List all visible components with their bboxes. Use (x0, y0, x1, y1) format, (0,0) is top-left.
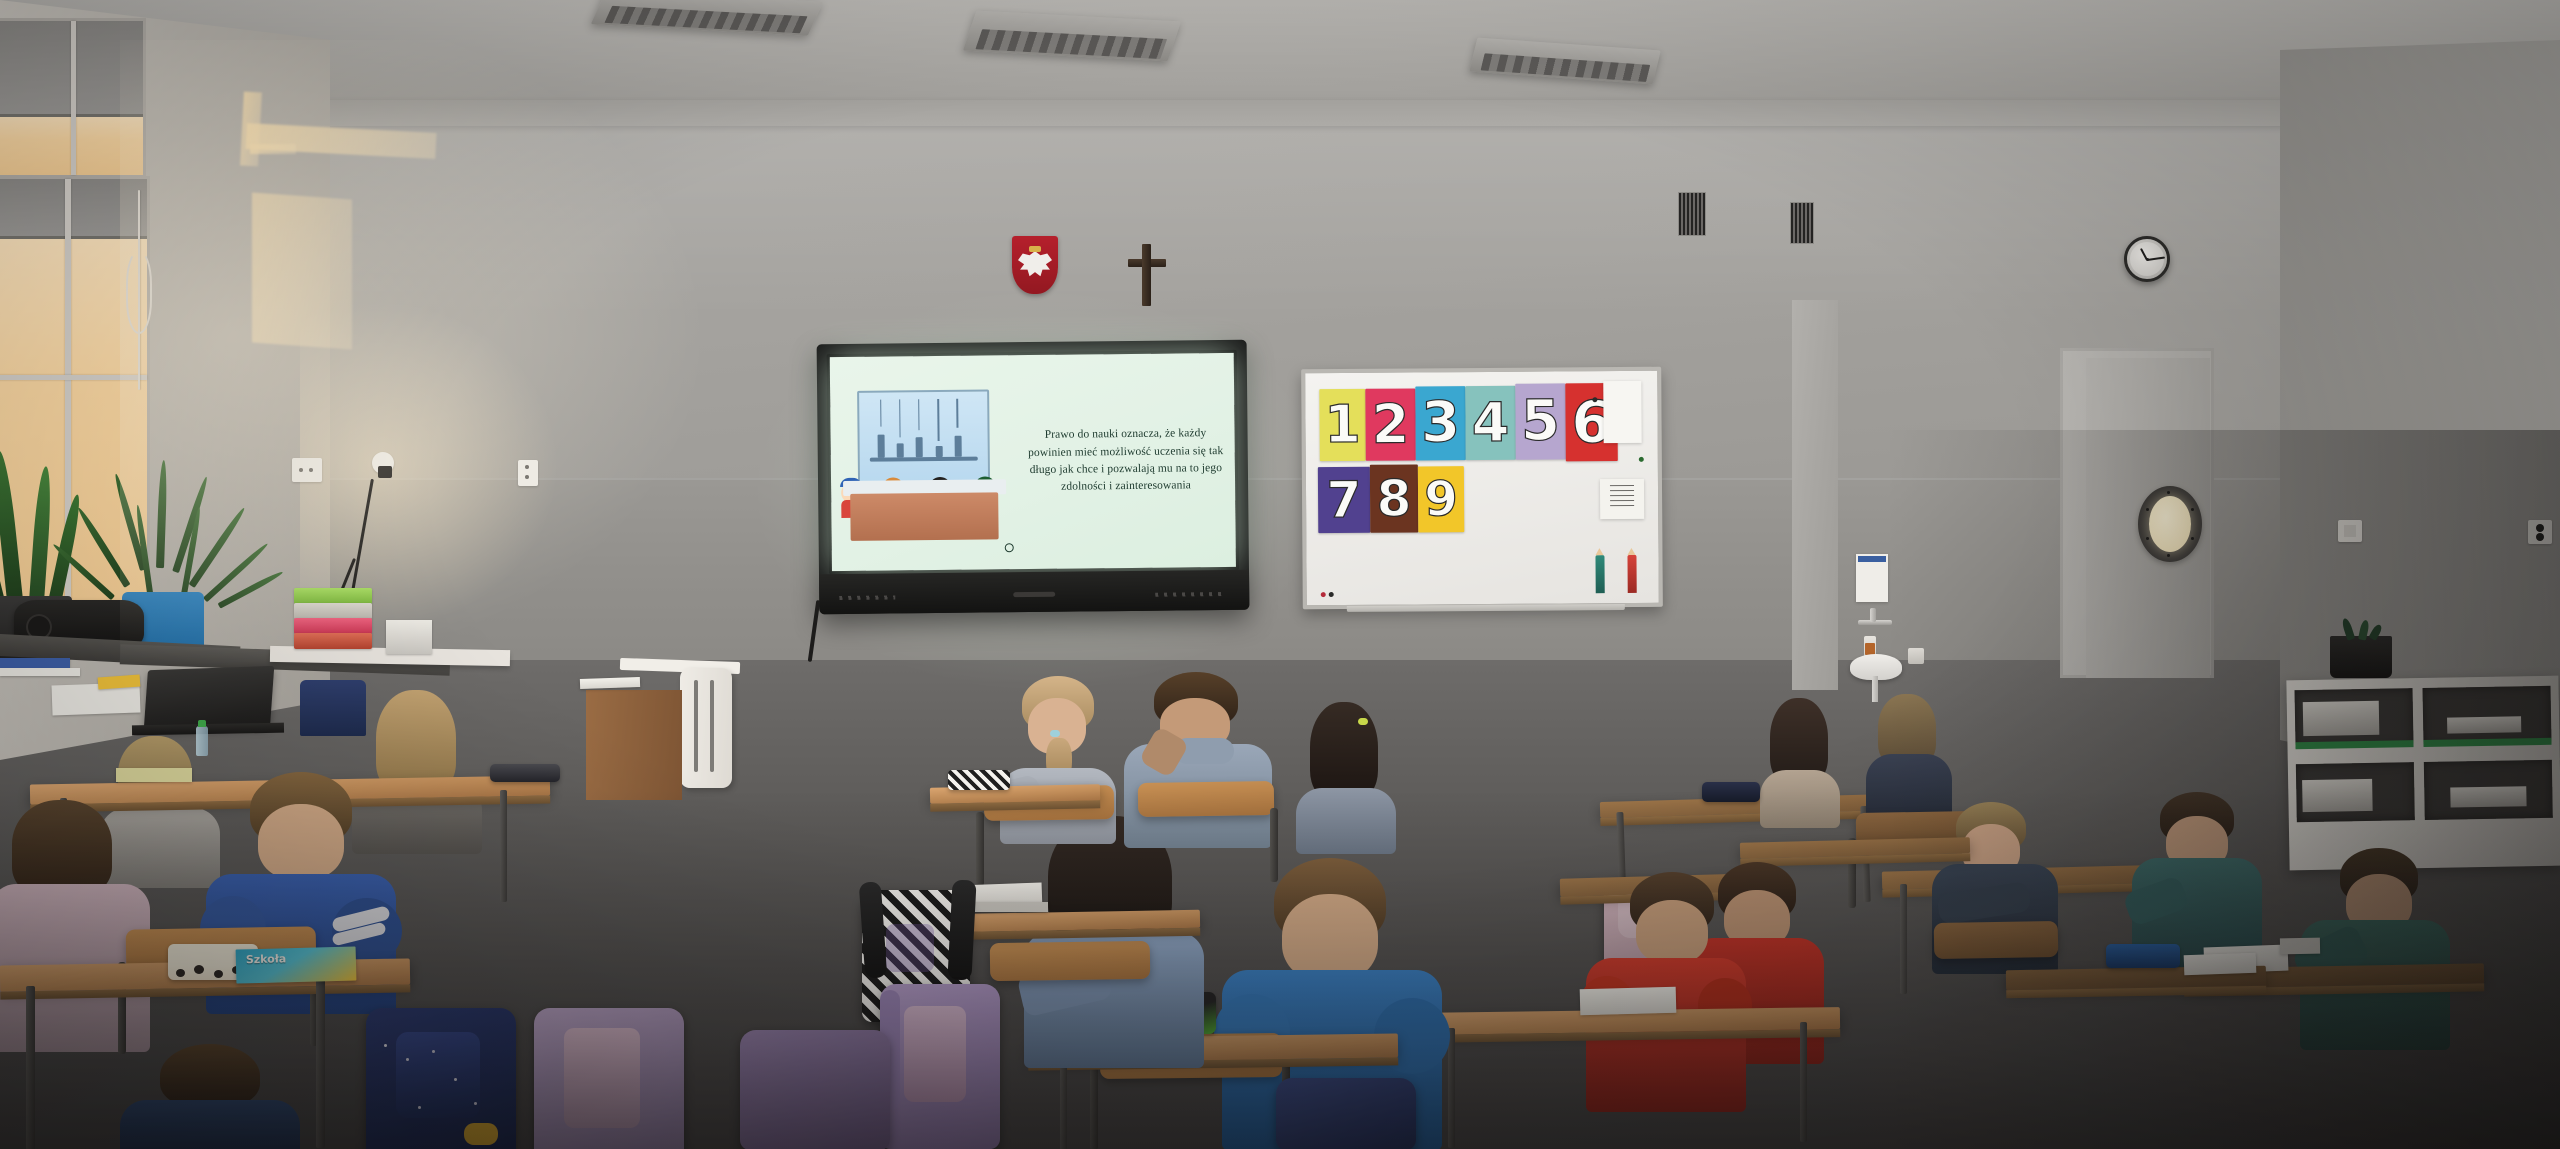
illustration-desk (851, 492, 999, 541)
student-chair[interactable] (1138, 781, 1274, 817)
drawer-organizer[interactable] (294, 588, 372, 650)
radiator-cover (680, 668, 732, 788)
wall-pillar (1792, 300, 1838, 690)
classroom-photo: Prawo do nauki oznacza, że każdy powinie… (0, 0, 2560, 1149)
student-grey-hoodie-boy (1124, 672, 1272, 852)
faucet[interactable] (1858, 620, 1892, 625)
display-bezel: Prawo do nauki oznacza, że każdy powinie… (827, 350, 1239, 574)
paper-stack (0, 668, 80, 676)
checkered-pencil-case[interactable] (948, 770, 1010, 790)
student-foreground (120, 1044, 300, 1149)
galaxy-backpack[interactable] (366, 1008, 516, 1149)
blue-pencil-case[interactable] (2106, 944, 2180, 968)
water-bottle[interactable] (196, 726, 208, 756)
roller-blind[interactable] (0, 179, 147, 239)
student-beige-sweater-girl (1754, 698, 1846, 818)
open-notebook[interactable] (2184, 953, 2257, 976)
multiplication-card-5[interactable]: 5 (1515, 383, 1566, 459)
paper-sheet (116, 768, 192, 782)
clock-face (2130, 242, 2164, 276)
student-desk (940, 910, 1200, 933)
window-upper (0, 18, 146, 178)
classroom-door[interactable] (2086, 358, 2210, 678)
paper-box (386, 620, 432, 654)
right-wall (2280, 40, 2560, 760)
textbook-szkola[interactable]: Szkoła (236, 946, 357, 983)
student-dark-hair-girl (1296, 702, 1396, 852)
student-chair[interactable] (990, 941, 1151, 981)
blind-cord[interactable] (138, 190, 140, 390)
handwash-instruction-poster (1856, 554, 1888, 602)
vent-grille-icon (1678, 192, 1706, 236)
power-plug[interactable] (378, 466, 392, 478)
teacher-laptop[interactable] (144, 666, 275, 730)
magnet-dot[interactable] (1639, 457, 1644, 462)
potted-plant-dark (2330, 636, 2392, 678)
stacked-papers (2447, 716, 2521, 733)
illustration-board (857, 390, 990, 486)
wall-socket[interactable] (292, 458, 322, 482)
interactive-display[interactable]: Prawo do nauki oznacza, że każdy powinie… (817, 340, 1250, 614)
door-frame (2060, 348, 2214, 678)
wall-socket[interactable] (518, 460, 538, 486)
wall-clock (2124, 236, 2170, 282)
student-green-sweater-boy (2300, 848, 2450, 1048)
purple-backpack[interactable] (534, 1008, 684, 1149)
light-switch[interactable] (2338, 520, 2362, 542)
multiplication-card-7[interactable]: 7 (1318, 467, 1370, 533)
magnet-dot[interactable] (1329, 592, 1334, 597)
clock-minute-hand (2147, 257, 2165, 261)
magnet-dot[interactable] (1321, 592, 1326, 597)
paper-storage-shelf (2286, 676, 2560, 871)
display-control-buttons[interactable] (839, 595, 895, 600)
navy-backpack[interactable] (1276, 1078, 1416, 1149)
polish-coat-of-arms (1012, 236, 1058, 294)
ir-sensor (1013, 592, 1055, 597)
round-porthole-window (2138, 486, 2202, 562)
wood-cabinet (586, 690, 682, 800)
display-chin (819, 570, 1249, 615)
slide-bullet-marker (1005, 543, 1014, 552)
stacked-papers (2450, 786, 2526, 807)
multiplication-card-1[interactable]: 1 (1319, 389, 1366, 461)
slide-text: Prawo do nauki oznacza, że każdy powinie… (1024, 425, 1235, 497)
presentation-slide[interactable]: Prawo do nauki oznacza, że każdy powinie… (830, 353, 1236, 571)
display-control-buttons[interactable] (1155, 592, 1225, 597)
wooden-crucifix (1128, 244, 1166, 306)
open-notebook[interactable] (1580, 987, 1677, 1016)
navy-pencil-case[interactable] (1702, 782, 1760, 802)
purple-backpack[interactable] (740, 1030, 890, 1149)
sunlight-patch (250, 144, 296, 154)
stacked-papers (2303, 701, 2380, 736)
porthole-glass (2149, 496, 2191, 552)
multiplication-card-3[interactable]: 3 (1415, 386, 1466, 460)
multiplication-card-9[interactable]: 9 (1418, 466, 1464, 532)
red-pencil-magnet[interactable] (1627, 555, 1636, 593)
green-pencil-magnet[interactable] (1595, 555, 1604, 593)
magnet-dot[interactable] (1592, 397, 1597, 402)
plastic-cup[interactable] (1908, 648, 1924, 664)
paper-stack (0, 658, 70, 668)
white-eagle-emblem (1018, 251, 1052, 281)
multiplication-card-2[interactable]: 2 (1365, 388, 1416, 460)
whiteboard-paper-note[interactable] (1603, 381, 1641, 443)
student-pink-jacket-girl (0, 800, 150, 1050)
student-chair[interactable] (1934, 921, 2059, 959)
ceiling-cornice (0, 100, 2560, 126)
grey-pencil-case[interactable] (490, 764, 560, 782)
eagle-crown (1029, 246, 1041, 252)
multiplication-card-8[interactable]: 8 (1370, 464, 1418, 532)
purple-backpack[interactable] (880, 984, 1000, 1149)
stacked-papers (2302, 779, 2373, 812)
multiplication-card-4[interactable]: 4 (1465, 386, 1516, 460)
paper-sheet (580, 677, 640, 689)
vent-grille-icon (1790, 202, 1814, 244)
children-at-desk-illustration (830, 355, 1026, 571)
magnetic-whiteboard[interactable]: 1 2 3 4 5 6 7 8 9 (1301, 367, 1663, 610)
wall-socket[interactable] (2528, 520, 2552, 544)
paper-sheet[interactable] (2280, 938, 2320, 955)
